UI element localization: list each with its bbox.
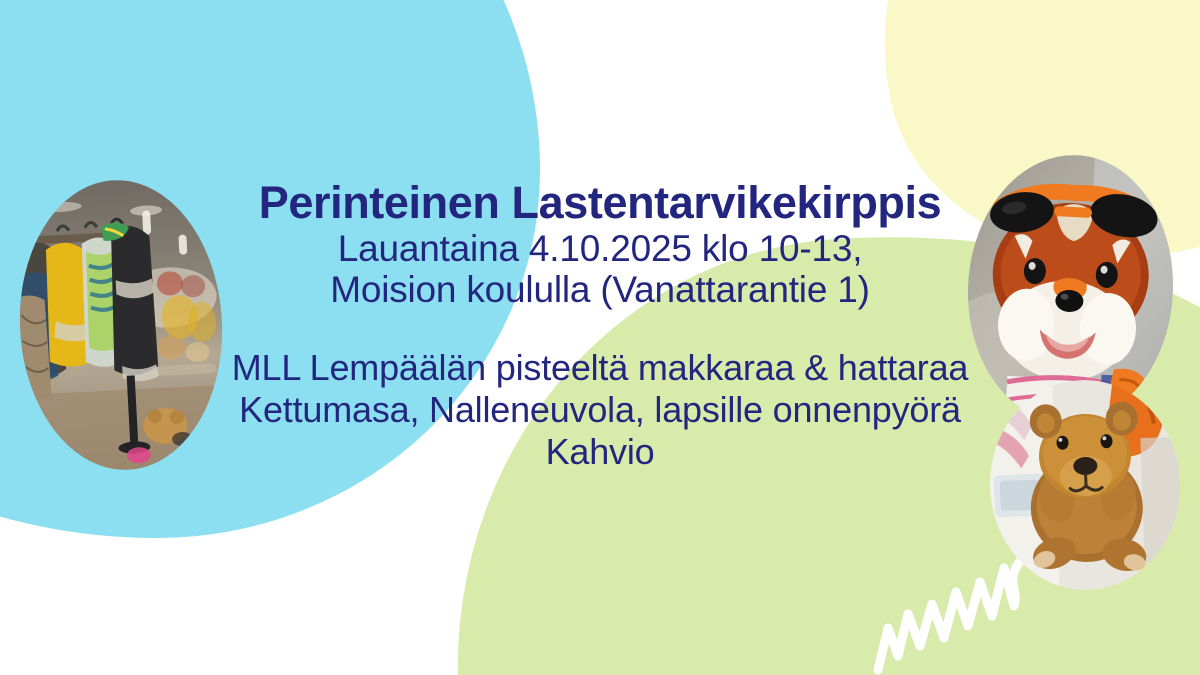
poster-details: MLL Lempäälän pisteeltä makkaraa & hatta…: [170, 347, 1030, 473]
detail-line-3: Kahvio: [170, 431, 1030, 473]
detail-line-2: Kettumasa, Nalleneuvola, lapsille onnenp…: [170, 389, 1030, 431]
detail-line-1: MLL Lempäälän pisteeltä makkaraa & hatta…: [170, 347, 1030, 389]
poster-canvas: Perinteinen Lastentarvikekirppis Lauanta…: [0, 0, 1200, 675]
event-line-1: Lauantaina 4.10.2025 klo 10-13,: [170, 228, 1030, 269]
poster-headline: Perinteinen Lastentarvikekirppis: [170, 178, 1030, 227]
event-line-2: Moision koululla (Vanattarantie 1): [170, 269, 1030, 310]
poster-text-block: Perinteinen Lastentarvikekirppis Lauanta…: [170, 178, 1030, 473]
